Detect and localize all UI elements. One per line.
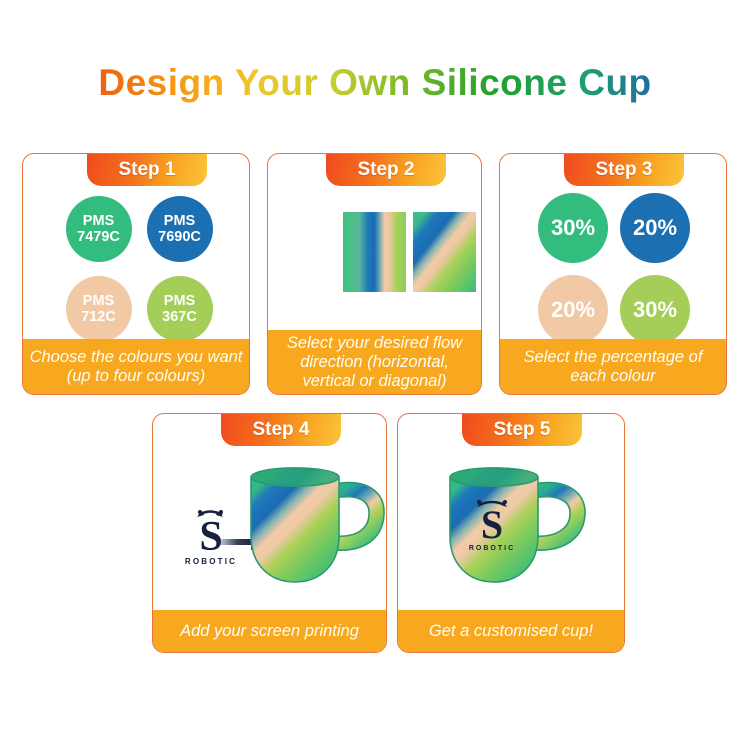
logo-wordmark: ROBOTIC <box>185 557 237 566</box>
cup-illustration-blank <box>239 456 387 591</box>
pms-swatch-7479c[interactable]: PMS 7479C <box>66 196 132 262</box>
percentage-grid: 30% 20% 20% 30% <box>538 190 690 348</box>
pms-code: 367C <box>162 309 197 325</box>
pms-prefix: PMS <box>164 293 195 309</box>
step-caption-4: Add your screen printing <box>153 610 386 652</box>
diagonal-gradient-tile[interactable] <box>413 212 476 292</box>
step-badge-2: Step 2 <box>326 154 446 186</box>
percentage-value: 30% <box>551 216 595 241</box>
pms-code: 7690C <box>158 229 201 245</box>
flow-direction-options <box>268 212 481 292</box>
step-badge-3: Step 3 <box>564 154 684 186</box>
pms-swatch-712c[interactable]: PMS 712C <box>66 276 132 342</box>
step-caption-3: Select the percentage of each colour <box>500 339 726 394</box>
percentage-swatch-peach[interactable]: 20% <box>538 275 608 345</box>
pms-code: 712C <box>81 309 116 325</box>
pms-prefix: PMS <box>164 213 195 229</box>
step-card-2[interactable]: Step 2 Select your desired flow directio… <box>267 153 482 395</box>
svg-text:ROBOTIC: ROBOTIC <box>469 545 515 552</box>
percentage-swatch-green[interactable]: 30% <box>538 193 608 263</box>
poster-root: Design Your Own Silicone Cup Step 1 PMS … <box>0 0 750 750</box>
cup-printed-svg: S ROBOTIC <box>438 456 593 591</box>
step-card-3[interactable]: Step 3 30% 20% 20% 30% Select the percen… <box>499 153 727 395</box>
percentage-value: 20% <box>551 298 595 323</box>
percentage-value: 30% <box>633 298 677 323</box>
pms-code: 7479C <box>77 229 120 245</box>
vertical-gradient-tile[interactable] <box>343 212 406 292</box>
pms-prefix: PMS <box>83 213 114 229</box>
step-badge-5: Step 5 <box>462 414 582 446</box>
page-title: Design Your Own Silicone Cup <box>0 62 750 104</box>
step-caption-5: Get a customised cup! <box>398 610 624 652</box>
pms-swatch-367c[interactable]: PMS 367C <box>147 276 213 342</box>
step-badge-4: Step 4 <box>221 414 341 446</box>
horizontal-gradient-tile[interactable] <box>273 212 336 292</box>
svg-text:S: S <box>481 502 503 547</box>
step-card-4[interactable]: Step 4 S ROBOTIC <box>152 413 387 653</box>
step-caption-2: Select your desired flow direction (hori… <box>268 330 481 394</box>
percentage-swatch-lime[interactable]: 30% <box>620 275 690 345</box>
pms-swatch-7690c[interactable]: PMS 7690C <box>147 196 213 262</box>
step-caption-1: Choose the colours you want (up to four … <box>23 339 249 394</box>
step-card-1[interactable]: Step 1 PMS 7479C PMS 7690C PMS 712C PMS … <box>22 153 250 395</box>
step-card-5[interactable]: Step 5 <box>397 413 625 653</box>
pms-colour-grid: PMS 7479C PMS 7690C PMS 712C PMS 367C <box>65 194 213 344</box>
percentage-value: 20% <box>633 216 677 241</box>
step-badge-1: Step 1 <box>87 154 207 186</box>
cup-illustration-printed: S ROBOTIC <box>438 456 593 591</box>
cup-svg <box>239 456 387 591</box>
pms-prefix: PMS <box>83 293 114 309</box>
percentage-swatch-blue[interactable]: 20% <box>620 193 690 263</box>
